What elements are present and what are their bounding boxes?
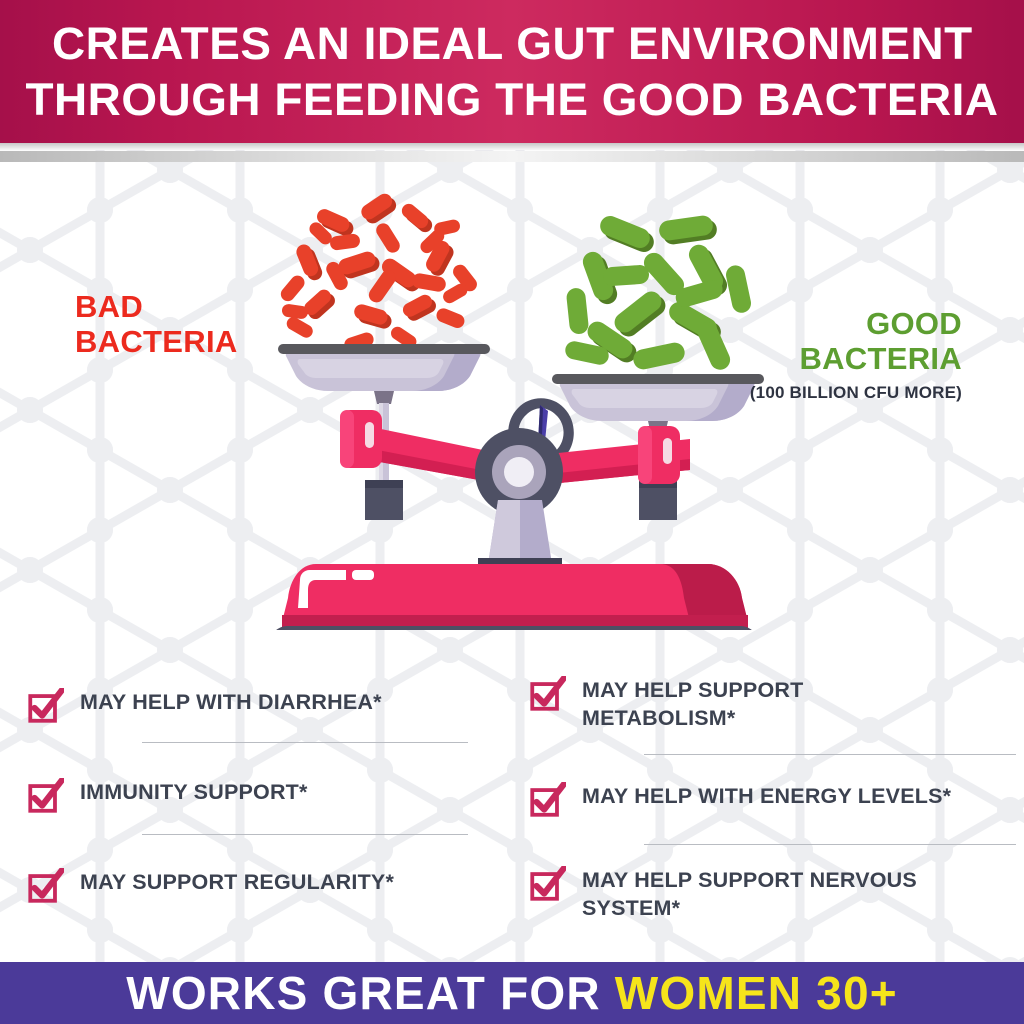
benefits-left-column: MAY HELP WITH DIARRHEA* IMMUNITY SUPPORT…: [0, 666, 512, 946]
header-title-line-2: THROUGH FEEDING THE GOOD BACTERIA: [25, 77, 998, 122]
benefit-item: MAY HELP WITH DIARRHEA*: [26, 686, 492, 726]
bad-bacteria-label-line-2: BACTERIA: [75, 324, 238, 359]
checkbox-checked-icon: [26, 778, 64, 816]
good-bacteria-cfu-note: (100 BILLION CFU MORE): [750, 383, 962, 403]
bad-bacteria-cluster: [278, 191, 480, 353]
header-banner: CREATES AN IDEAL GUT ENVIRONMENT THROUGH…: [0, 0, 1024, 143]
good-bacteria-label: GOOD BACTERIA (100 BILLION CFU MORE): [750, 306, 962, 403]
good-bacteria-label-line-1: GOOD: [750, 306, 962, 341]
header-title-line-1: CREATES AN IDEAL GUT ENVIRONMENT: [52, 21, 973, 66]
footer-space: [601, 967, 615, 1019]
benefit-separator: [644, 754, 1016, 755]
benefit-item: MAY SUPPORT REGULARITY*: [26, 866, 492, 906]
footer-banner: WORKS GREAT FOR WOMEN 30+: [0, 962, 1024, 1024]
header-divider-band: [0, 151, 1024, 162]
benefits-section: MAY HELP WITH DIARRHEA* IMMUNITY SUPPORT…: [0, 666, 1024, 946]
checkbox-checked-icon: [528, 782, 566, 820]
benefit-label: MAY HELP WITH DIARRHEA*: [80, 686, 382, 717]
infographic-page: CREATES AN IDEAL GUT ENVIRONMENT THROUGH…: [0, 0, 1024, 1024]
benefit-item: MAY HELP SUPPORT METABOLISM*: [528, 674, 1012, 733]
benefit-label: MAY SUPPORT REGULARITY*: [80, 866, 394, 897]
header-shadow: [0, 143, 1024, 151]
benefit-separator: [142, 834, 468, 835]
bad-bacteria-label-line-1: BAD: [75, 289, 238, 324]
benefit-label: MAY HELP SUPPORT METABOLISM*: [582, 674, 882, 733]
benefit-item: IMMUNITY SUPPORT*: [26, 776, 492, 816]
footer-text-yellow: WOMEN 30+: [615, 967, 898, 1019]
benefit-label: IMMUNITY SUPPORT*: [80, 776, 308, 807]
checkbox-checked-icon: [26, 868, 64, 906]
scale-base: [268, 564, 760, 630]
good-bacteria-cluster: [564, 213, 753, 373]
benefit-item: MAY HELP SUPPORT NERVOUS SYSTEM*: [528, 864, 1012, 923]
benefits-right-column: MAY HELP SUPPORT METABOLISM* MAY HELP WI…: [512, 666, 1024, 946]
checkbox-checked-icon: [528, 866, 566, 904]
good-bacteria-label-line-2: BACTERIA: [750, 341, 962, 376]
bad-bacteria-label: BAD BACTERIA: [75, 289, 238, 359]
benefit-label: MAY HELP SUPPORT NERVOUS SYSTEM*: [582, 864, 952, 923]
checkbox-checked-icon: [26, 688, 64, 726]
footer-text-white: WORKS GREAT FOR: [126, 967, 601, 1019]
benefit-separator: [644, 844, 1016, 845]
footer-text: WORKS GREAT FOR WOMEN 30+: [126, 970, 898, 1016]
benefit-item: MAY HELP WITH ENERGY LEVELS*: [528, 780, 1012, 820]
checkbox-checked-icon: [528, 676, 566, 714]
benefit-separator: [142, 742, 468, 743]
benefit-label: MAY HELP WITH ENERGY LEVELS*: [582, 780, 951, 811]
